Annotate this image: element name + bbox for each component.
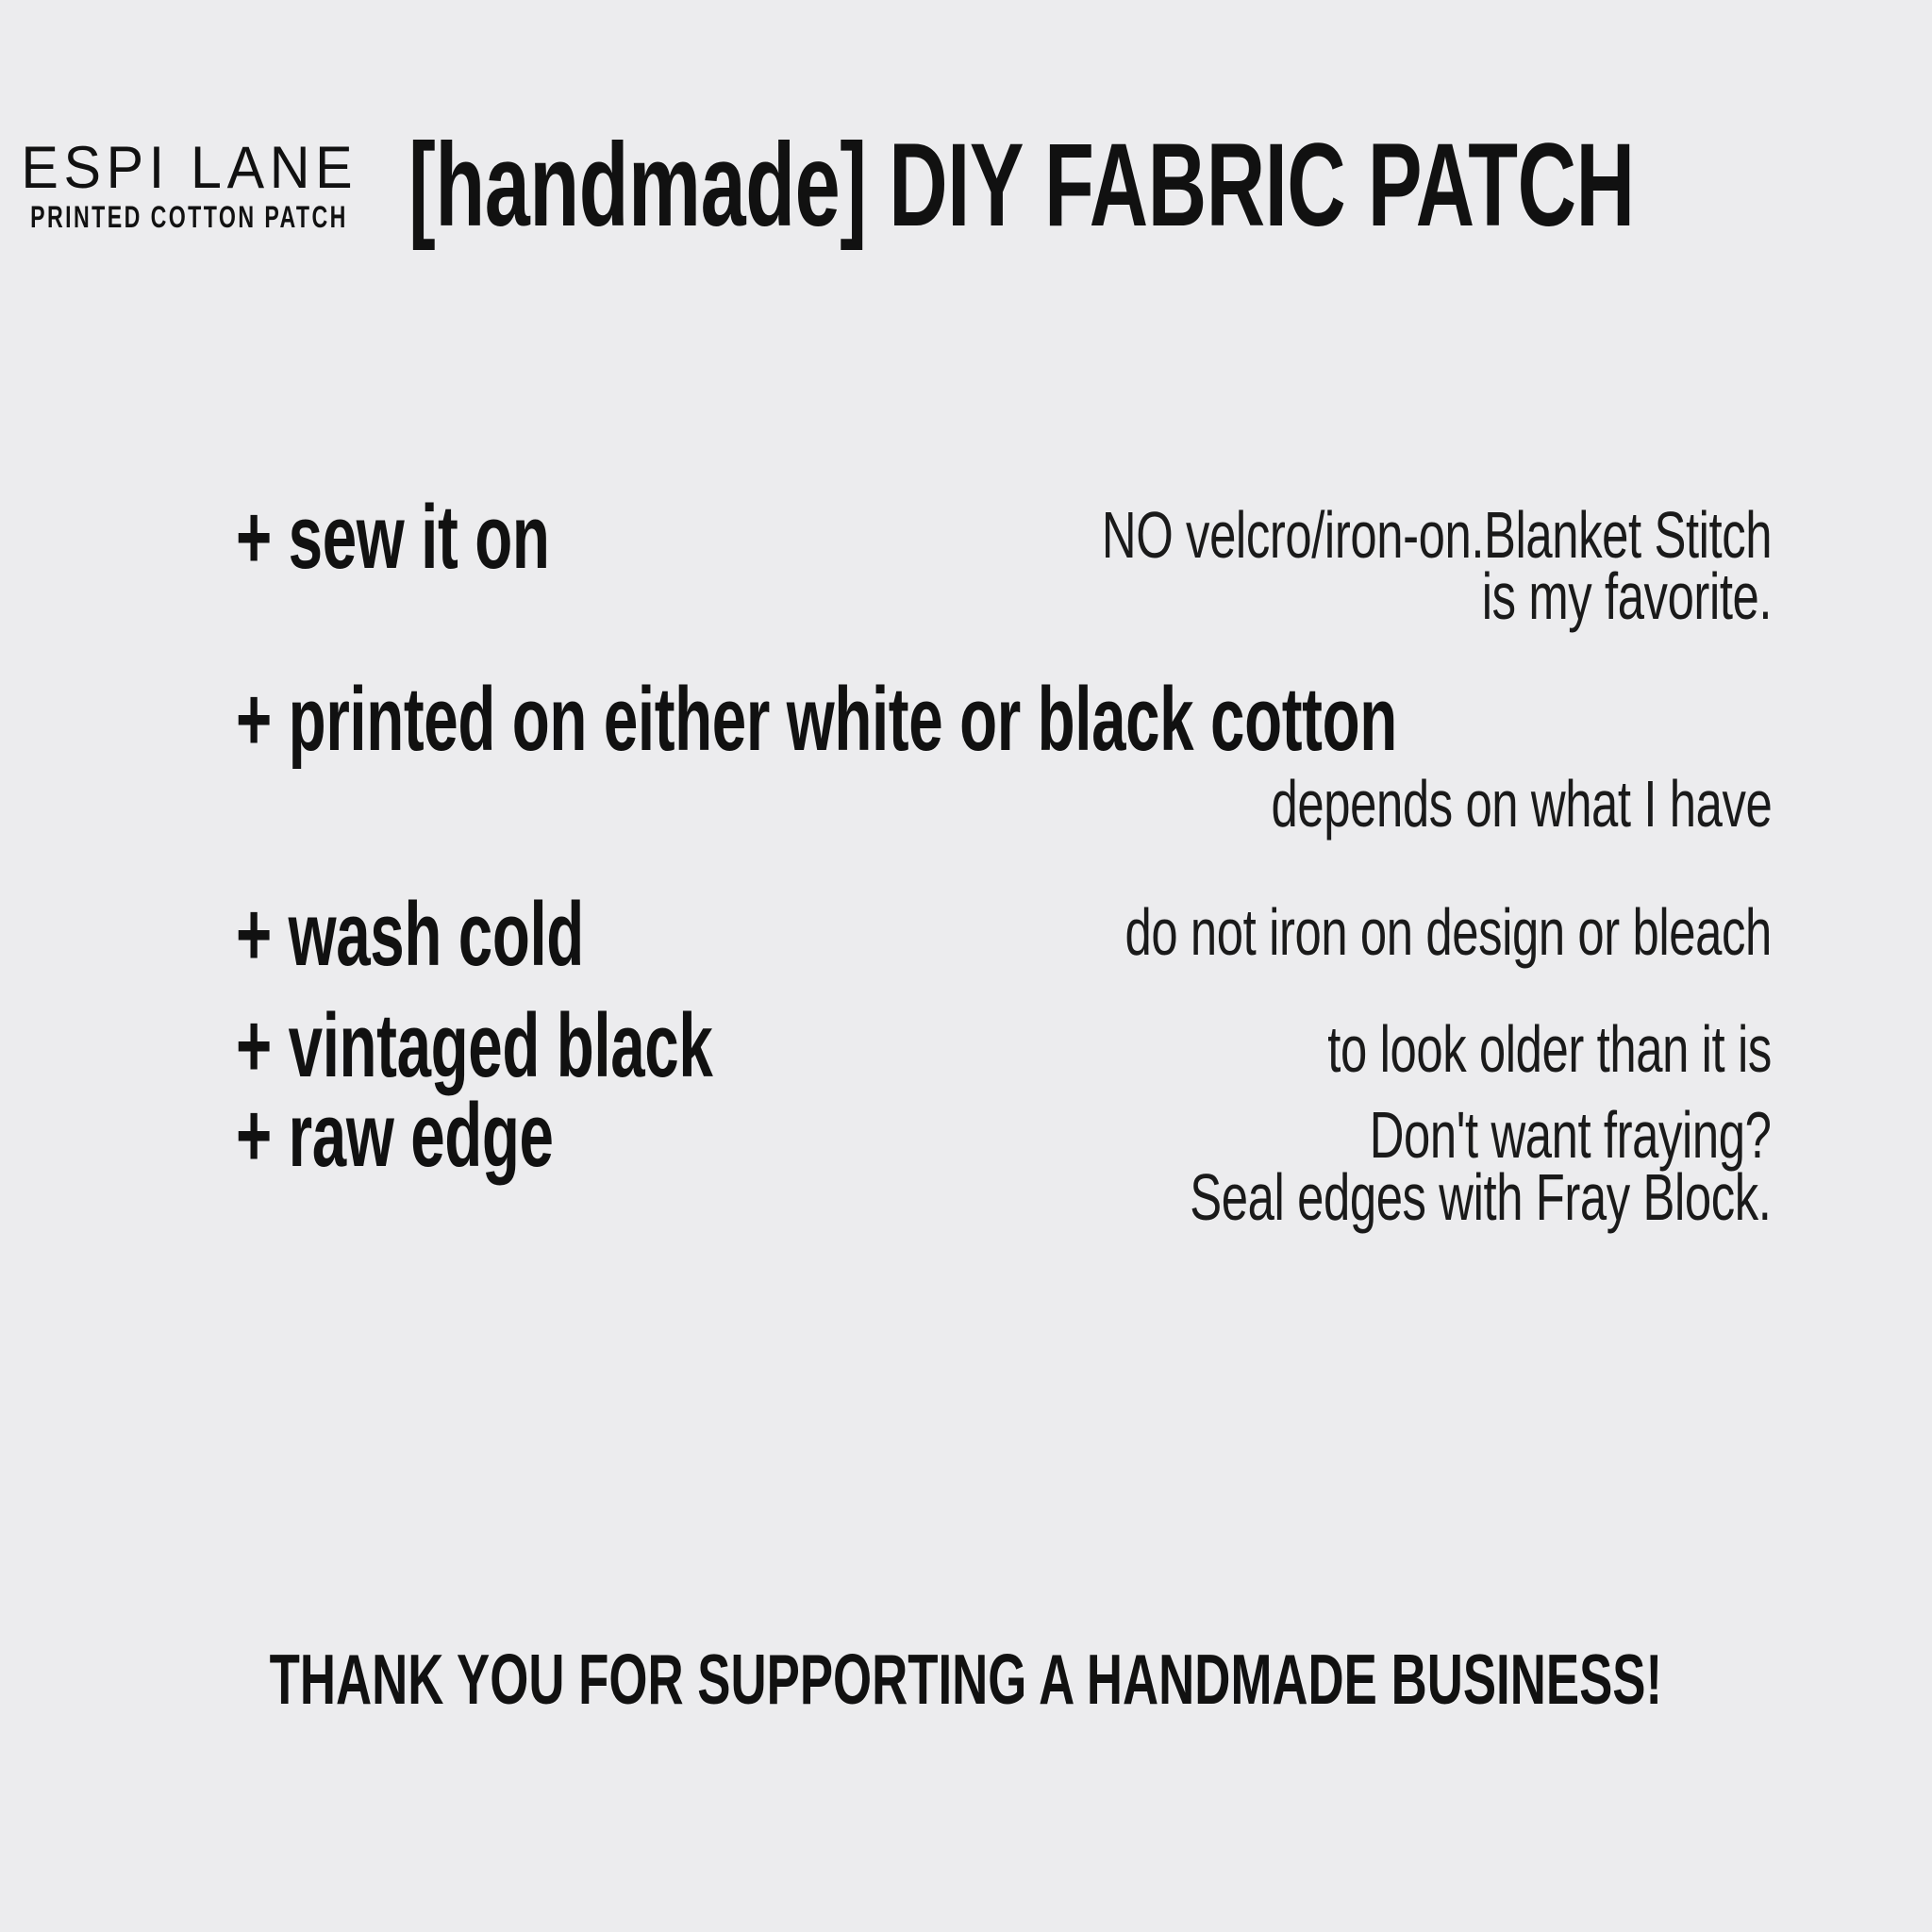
care-item-description: depends on what I have <box>1271 774 1772 836</box>
footer: THANK YOU FOR SUPPORTING A HANDMADE BUSI… <box>0 1643 1932 1932</box>
care-instruction-list: + sew it on NO velcro/iron-on.Blanket St… <box>236 491 1772 1217</box>
care-item-description: do not iron on design or bleach <box>1125 903 1772 964</box>
brand-lockup: ESPI LANE PRINTED COTTON PATCH <box>0 140 388 241</box>
care-item-label: + sew it on <box>236 491 549 585</box>
care-item-wash-cold: + wash cold do not iron on design or ble… <box>236 888 1772 970</box>
care-item-description: NO velcro/iron-on.Blanket Stitch is my f… <box>1102 506 1772 627</box>
header: ESPI LANE PRINTED COTTON PATCH [handmade… <box>0 140 1932 241</box>
brand-subtitle: PRINTED COTTON PATCH <box>30 202 348 236</box>
brand-name: ESPI LANE <box>21 140 358 198</box>
care-item-label: + wash cold <box>236 888 584 982</box>
care-item-vintaged-black: + vintaged black to look older than it i… <box>236 999 1772 1081</box>
care-item-label: + vintaged black <box>236 999 712 1093</box>
care-item-sew-it-on: + sew it on NO velcro/iron-on.Blanket St… <box>236 491 1772 614</box>
care-item-printed-on-cotton: + printed on either white or black cotto… <box>236 673 1772 867</box>
patch-care-card: ESPI LANE PRINTED COTTON PATCH [handmade… <box>0 0 1932 1932</box>
page-title: [handmade] DIY FABRIC PATCH <box>408 130 1635 239</box>
care-item-label: + raw edge <box>236 1089 554 1183</box>
care-item-description: Don't want fraying? Seal edges with Fray… <box>1191 1106 1772 1230</box>
care-item-description: to look older than it is <box>1327 1020 1772 1081</box>
care-item-raw-edge: + raw edge Don't want fraying? Seal edge… <box>236 1089 1772 1217</box>
care-item-label: + printed on either white or black cotto… <box>236 673 1434 767</box>
thank-you-message: THANK YOU FOR SUPPORTING A HANDMADE BUSI… <box>270 1643 1663 1714</box>
